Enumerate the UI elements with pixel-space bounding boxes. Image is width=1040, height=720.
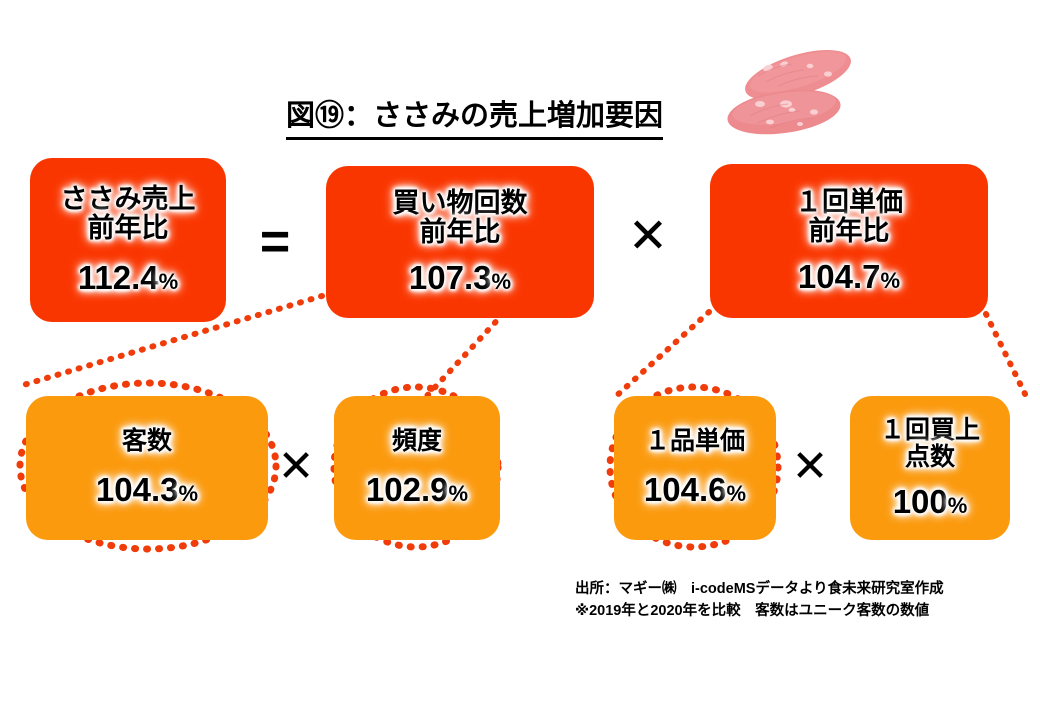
- box-value: 104.7%: [798, 260, 900, 295]
- box-label-line1: 頻度: [392, 428, 442, 455]
- value-unit: %: [449, 481, 469, 506]
- value-unit: %: [179, 481, 199, 506]
- box-value: 104.6%: [644, 473, 746, 508]
- equals-operator: =: [252, 212, 298, 272]
- slide-canvas: 図⑲：ささみの売上増加要因 ささみ売上 前年比 112.4% 買い物回数 前年比…: [0, 0, 1040, 720]
- box-value: 112.4%: [78, 261, 178, 296]
- chicken-tenderloin-illustration: [700, 28, 880, 158]
- value-unit: %: [881, 268, 901, 293]
- page-title: 図⑲：ささみの売上増加要因: [286, 92, 663, 140]
- value-number: 112.4: [78, 259, 159, 296]
- box-value: 100%: [893, 485, 968, 520]
- box-label-line1: 買い物回数: [393, 189, 528, 218]
- box-unit-price-per-item[interactable]: １品単価 104.6%: [614, 396, 776, 540]
- box-label-line2: 点数: [905, 444, 955, 471]
- box-sasami-sales[interactable]: ささみ売上 前年比 112.4%: [30, 158, 226, 322]
- value-unit: %: [727, 481, 747, 506]
- box-items-per-trip[interactable]: １回買上 点数 100%: [850, 396, 1010, 540]
- value-number: 104.3: [96, 471, 179, 508]
- box-shopping-trips[interactable]: 買い物回数 前年比 107.3%: [326, 166, 594, 318]
- connector-unitprice-to-items: [986, 314, 1026, 396]
- box-value: 107.3%: [409, 261, 511, 296]
- box-label-line2: 前年比: [420, 218, 501, 247]
- box-price-per-trip[interactable]: １回単価 前年比 104.7%: [710, 164, 988, 318]
- box-value: 102.9%: [366, 473, 468, 508]
- box-label-line1: １回買上: [880, 417, 980, 444]
- footnote-source: 出所：マギー㈱ i-codeMSデータより食未来研究室作成: [575, 578, 944, 600]
- box-label-line1: ささみ売上: [61, 185, 196, 214]
- connector-unitprice-to-itemprice: [614, 312, 709, 398]
- box-value: 104.3%: [96, 473, 198, 508]
- value-number: 104.6: [644, 471, 727, 508]
- multiply-operator-bottom-left: ✕: [272, 438, 320, 496]
- multiply-operator-top: ✕: [624, 206, 672, 268]
- box-customer-count[interactable]: 客数 104.3%: [26, 396, 268, 540]
- box-label-line2: 前年比: [88, 214, 169, 243]
- value-number: 107.3: [409, 259, 492, 296]
- value-unit: %: [492, 269, 512, 294]
- footnote: 出所：マギー㈱ i-codeMSデータより食未来研究室作成 ※2019年と202…: [575, 578, 944, 623]
- footnote-note: ※2019年と2020年を比較 客数はユニーク客数の数値: [575, 600, 944, 622]
- box-frequency[interactable]: 頻度 102.9%: [334, 396, 500, 540]
- connector-trips-to-frequency: [425, 314, 503, 398]
- multiply-operator-bottom-right: ✕: [786, 438, 834, 496]
- value-unit: %: [948, 493, 968, 518]
- box-label-line1: 客数: [122, 428, 172, 455]
- value-number: 104.7: [798, 258, 881, 295]
- value-unit: %: [159, 269, 179, 294]
- box-label-line1: １品単価: [645, 428, 745, 455]
- box-label-line1: １回単価: [795, 188, 903, 217]
- box-label-line2: 前年比: [809, 217, 890, 246]
- value-number: 102.9: [366, 471, 449, 508]
- value-number: 100: [893, 483, 948, 520]
